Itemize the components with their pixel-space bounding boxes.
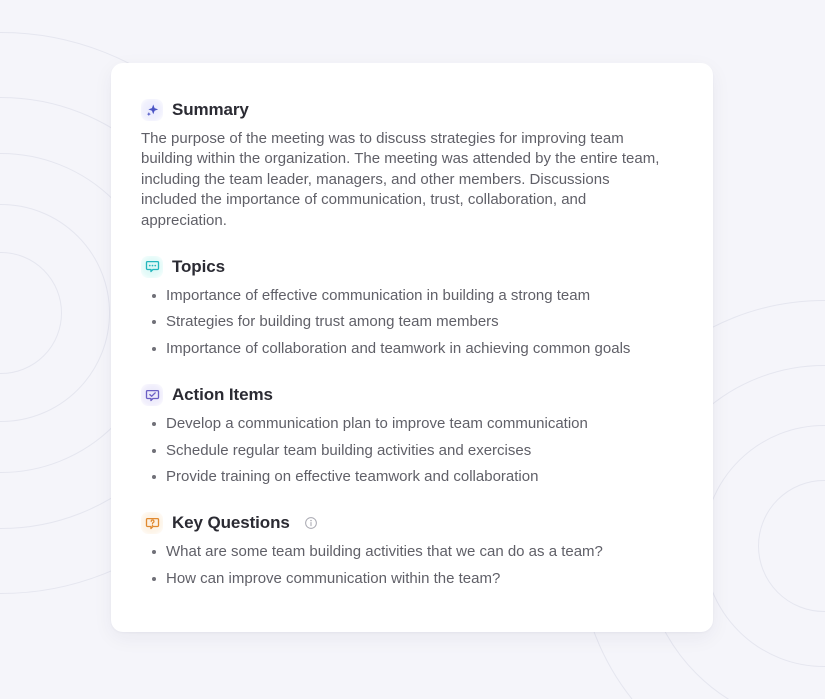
meeting-summary-card: Summary The purpose of the meeting was t… [111, 63, 713, 632]
section-title-topics: Topics [172, 257, 225, 277]
summary-paragraph: The purpose of the meeting was to discus… [141, 129, 663, 231]
speech-bubble-dots-icon [141, 256, 163, 278]
section-header-topics: Topics [141, 256, 683, 278]
section-summary: Summary The purpose of the meeting was t… [141, 99, 683, 231]
section-key-questions: Key Questions What are some team buildin… [141, 512, 683, 589]
sparkle-icon [141, 99, 163, 121]
section-header-summary: Summary [141, 99, 683, 121]
list-item: Develop a communication plan to improve … [141, 414, 683, 434]
speech-bubble-check-icon [141, 384, 163, 406]
section-title-key-questions: Key Questions [172, 513, 290, 533]
list-item: Schedule regular team building activitie… [141, 441, 683, 461]
background-ring [703, 425, 825, 667]
list-item: Importance of effective communication in… [141, 286, 683, 306]
list-item: Importance of collaboration and teamwork… [141, 339, 683, 359]
list-item: What are some team building activities t… [141, 542, 683, 562]
list-item: Provide training on effective teamwork a… [141, 467, 683, 487]
speech-bubble-question-icon [141, 512, 163, 534]
background-ring [0, 204, 110, 422]
section-title-summary: Summary [172, 100, 249, 120]
action-items-list: Develop a communication plan to improve … [141, 414, 683, 487]
section-title-action-items: Action Items [172, 385, 273, 405]
section-action-items: Action Items Develop a communication pla… [141, 384, 683, 487]
list-item: How can improve communication within the… [141, 569, 683, 589]
background-ring [758, 480, 825, 612]
section-header-action-items: Action Items [141, 384, 683, 406]
section-header-key-questions: Key Questions [141, 512, 683, 534]
section-topics: Topics Importance of effective communica… [141, 256, 683, 359]
background-ring [0, 252, 62, 374]
list-item: Strategies for building trust among team… [141, 312, 683, 332]
topics-list: Importance of effective communication in… [141, 286, 683, 359]
info-circle-icon[interactable] [304, 516, 318, 530]
key-questions-list: What are some team building activities t… [141, 542, 683, 589]
